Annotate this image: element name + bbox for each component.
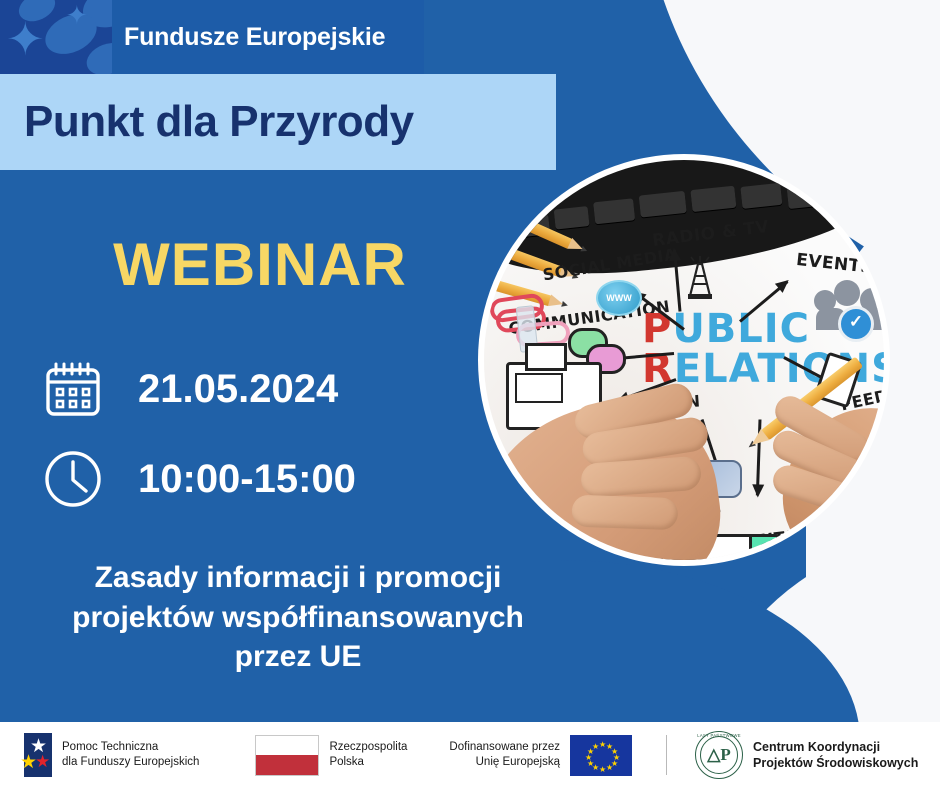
footer-logo-bar: ★ ★ ★ Pomoc Techniczna dla Funduszy Euro… bbox=[0, 722, 940, 788]
event-subtitle: Zasady informacji i promocji projektów w… bbox=[28, 558, 568, 677]
subtitle-line-3: przez UE bbox=[28, 637, 568, 677]
event-date: 21.05.2024 bbox=[138, 367, 338, 412]
people-group-icon: ✓ bbox=[814, 278, 884, 336]
radio-tower-icon bbox=[680, 256, 720, 300]
footer-label-line1: Dofinansowane przez bbox=[449, 740, 560, 755]
footer-item-ckps: LASY PAŃSTWOWE △P Centrum Koordynacji Pr… bbox=[695, 731, 918, 779]
calendar-icon bbox=[42, 358, 104, 420]
footer-item-rzeczpospolita-polska: Rzeczpospolita Polska bbox=[255, 735, 407, 776]
fe-logo-stars-graphic: ✦ ✦ bbox=[0, 0, 112, 74]
footer-divider bbox=[666, 735, 667, 775]
date-row: 21.05.2024 bbox=[42, 358, 338, 420]
lasy-ring-text: LASY PAŃSTWOWE bbox=[696, 733, 742, 738]
star-icon: ★ bbox=[35, 753, 50, 770]
page-title: Punkt dla Przyrody bbox=[24, 97, 414, 147]
star-icon: ✦ bbox=[6, 16, 45, 62]
footer-label-line1: Pomoc Techniczna bbox=[62, 740, 199, 755]
fe-logo-label: Fundusze Europejskie bbox=[124, 0, 385, 74]
footer-label-line1: Centrum Koordynacji bbox=[753, 739, 918, 756]
footer-label-line2: Unię Europejską bbox=[449, 755, 560, 770]
globe-www-icon: WWW bbox=[596, 280, 642, 316]
pomoc-techniczna-fe-logo: ★ ★ ★ bbox=[20, 733, 52, 777]
footer-item-dofinansowane-ue: Dofinansowane przez Unię Europejską ★ ★ … bbox=[449, 735, 632, 776]
footer-label-line2: Projektów Środowiskowych bbox=[753, 755, 918, 772]
star-icon: ✦ bbox=[66, 2, 88, 28]
clock-icon bbox=[42, 448, 104, 510]
subtitle-line-2: projektów współfinansowanych bbox=[28, 598, 568, 638]
check-badge-icon: ✓ bbox=[838, 306, 874, 342]
time-row: 10:00-15:00 bbox=[42, 448, 356, 510]
footer-item-pomoc-techniczna: ★ ★ ★ Pomoc Techniczna dla Funduszy Euro… bbox=[20, 733, 199, 777]
poster-root: ✦ ✦ Fundusze Europejskie Punkt dla Przyr… bbox=[0, 0, 940, 788]
title-band: Punkt dla Przyrody bbox=[0, 74, 556, 170]
fundusze-europejskie-logo-band: ✦ ✦ Fundusze Europejskie bbox=[0, 0, 424, 74]
event-type-heading: WEBINAR bbox=[0, 230, 520, 299]
lasy-panstwowe-logo: LASY PAŃSTWOWE △P bbox=[695, 731, 743, 779]
public-relations-mindmap-photo: SOCIAL MEDIA RADIO & TV EVENTS COMMUNICA… bbox=[484, 160, 884, 560]
eu-flag: ★ ★ ★ ★ ★ ★ ★ ★ ★ ★ ★ ★ bbox=[570, 735, 632, 776]
event-time: 10:00-15:00 bbox=[138, 457, 356, 502]
footer-label-line2: dla Funduszy Europejskich bbox=[62, 755, 199, 770]
footer-label-line1: Rzeczpospolita bbox=[329, 740, 407, 755]
footer-label-line2: Polska bbox=[329, 755, 407, 770]
poland-flag bbox=[255, 735, 319, 776]
subtitle-line-1: Zasady informacji i promocji bbox=[28, 558, 568, 598]
